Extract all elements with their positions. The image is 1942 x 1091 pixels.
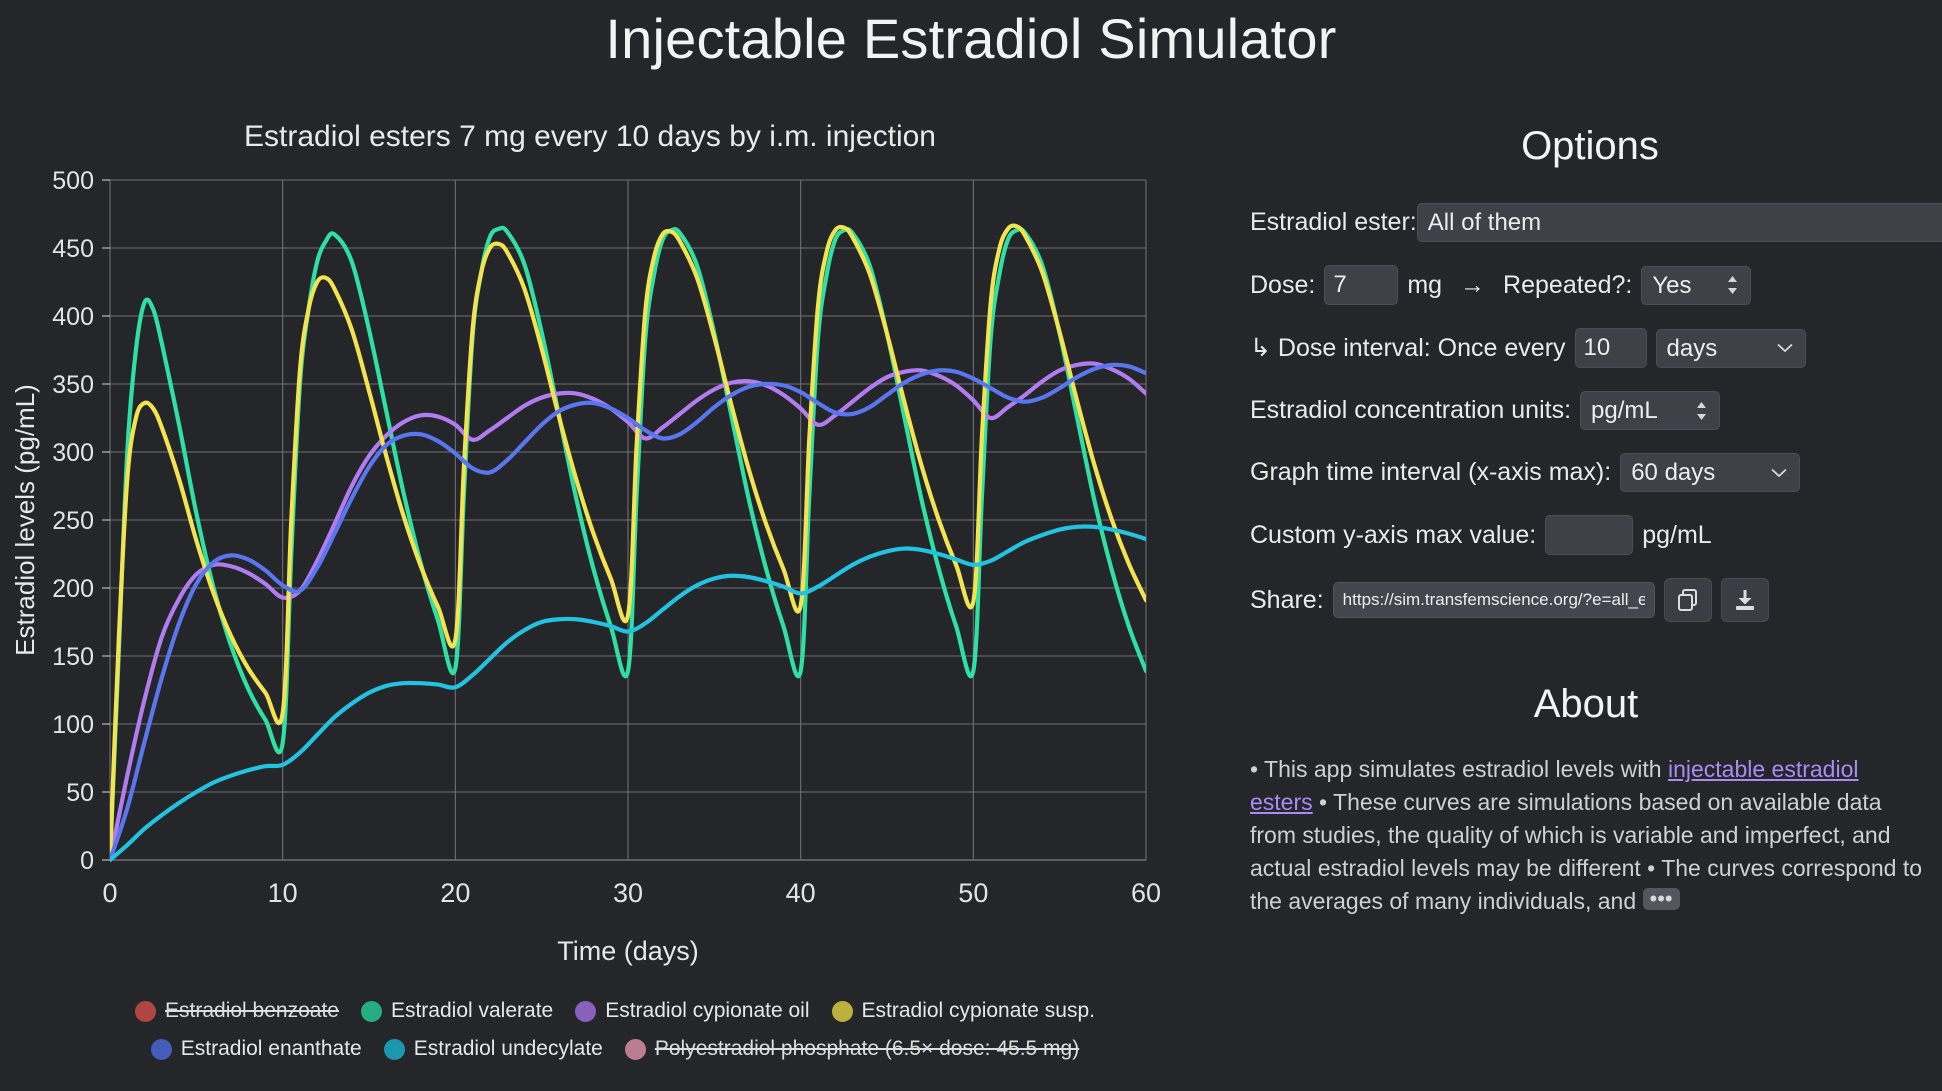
legend-color-swatch	[384, 1039, 405, 1060]
dose-interval-unit-select[interactable]: days	[1656, 329, 1806, 368]
concentration-units-select[interactable]: pg/mL	[1580, 391, 1720, 430]
copy-link-button[interactable]	[1664, 578, 1712, 622]
x-tick-label: 50	[958, 878, 988, 908]
legend-label: Estradiol undecylate	[414, 1037, 603, 1061]
legend-item[interactable]: Estradiol enanthate	[151, 1037, 362, 1061]
legend-color-swatch	[625, 1039, 646, 1060]
legend-label: Polyestradiol phosphate (6.5× dose: 45.5…	[655, 1037, 1079, 1061]
legend-label: Estradiol cypionate oil	[605, 999, 809, 1023]
legend-item[interactable]: Estradiol valerate	[361, 999, 553, 1023]
custom-ymax-input[interactable]	[1545, 515, 1633, 555]
repeated-select-wrap: Yes	[1641, 266, 1751, 305]
y-tick-label: 0	[80, 847, 94, 875]
time-interval-row: Graph time interval (x-axis max): 60 day…	[1250, 453, 1930, 492]
legend-color-swatch	[361, 1001, 382, 1022]
share-row: Share:	[1250, 578, 1930, 622]
dose-interval-row: ↳ Dose interval: Once every days	[1250, 328, 1930, 368]
chart-legend: Estradiol benzoateEstradiol valerateEstr…	[0, 992, 1230, 1068]
y-tick-label: 250	[52, 507, 94, 535]
ester-select-wrap: All of them	[1417, 203, 1942, 242]
repeated-label: Repeated?:	[1503, 271, 1632, 300]
legend-item[interactable]: Estradiol cypionate oil	[575, 999, 809, 1023]
about-text-part-2: • These curves are simulations based on …	[1250, 789, 1922, 914]
legend-color-swatch	[832, 1001, 853, 1022]
x-tick-label: 60	[1131, 878, 1161, 908]
ymax-label: Custom y-axis max value:	[1250, 521, 1536, 550]
options-heading: Options	[1250, 124, 1930, 169]
dose-interval-label: ↳ Dose interval: Once every	[1250, 333, 1566, 363]
app-root: Injectable Estradiol Simulator Estradiol…	[0, 0, 1942, 1091]
units-select-wrap: pg/mL	[1580, 391, 1720, 430]
show-more-button[interactable]: •••	[1643, 888, 1680, 910]
ester-label: Estradiol ester:	[1250, 208, 1417, 237]
legend-label: Estradiol valerate	[391, 999, 553, 1023]
units-row: Estradiol concentration units: pg/mL	[1250, 391, 1930, 430]
about-panel: About • This app simulates estradiol lev…	[1250, 682, 1922, 918]
dose-row: Dose: mg → Repeated?: Yes	[1250, 265, 1930, 305]
ymax-unit-label: pg/mL	[1642, 521, 1711, 550]
about-text: • This app simulates estradiol levels wi…	[1250, 753, 1922, 918]
x-tick-label: 40	[786, 878, 816, 908]
y-tick-label: 400	[52, 303, 94, 331]
legend-color-swatch	[151, 1039, 172, 1060]
units-label: Estradiol concentration units:	[1250, 396, 1571, 425]
ester-row: Estradiol ester: All of them	[1250, 203, 1930, 242]
legend-row-2: Estradiol enanthateEstradiol undecylateP…	[0, 1030, 1230, 1068]
legend-label: Estradiol benzoate	[165, 999, 339, 1023]
interval-unit-select-wrap: days	[1656, 329, 1806, 368]
estradiol-levels-chart: 0501001502002503003504004505000102030405…	[0, 148, 1180, 978]
x-axis-label: Time (days)	[557, 936, 699, 966]
time-interval-select-wrap: 60 days	[1620, 453, 1800, 492]
download-button[interactable]	[1721, 578, 1769, 622]
about-heading: About	[1250, 682, 1922, 727]
dose-input[interactable]	[1324, 265, 1398, 305]
legend-color-swatch	[135, 1001, 156, 1022]
legend-row-1: Estradiol benzoateEstradiol valerateEstr…	[0, 992, 1230, 1030]
legend-item[interactable]: Estradiol benzoate	[135, 999, 339, 1023]
dose-arrow-icon: →	[1460, 271, 1485, 300]
legend-item[interactable]: Estradiol undecylate	[384, 1037, 603, 1061]
legend-item[interactable]: Polyestradiol phosphate (6.5× dose: 45.5…	[625, 1037, 1079, 1061]
page-title: Injectable Estradiol Simulator	[0, 6, 1942, 71]
y-tick-label: 50	[66, 779, 94, 807]
dose-unit-label: mg	[1407, 271, 1442, 300]
y-tick-label: 300	[52, 439, 94, 467]
legend-color-swatch	[575, 1001, 596, 1022]
y-axis-label: Estradiol levels (pg/mL)	[10, 384, 40, 656]
dose-label: Dose:	[1250, 271, 1315, 300]
y-tick-label: 450	[52, 235, 94, 263]
dose-interval-input[interactable]	[1575, 328, 1647, 368]
y-tick-label: 350	[52, 371, 94, 399]
x-tick-label: 20	[440, 878, 470, 908]
repeated-select[interactable]: Yes	[1641, 266, 1751, 305]
y-tick-label: 500	[52, 167, 94, 195]
x-tick-label: 10	[268, 878, 298, 908]
share-url-input[interactable]	[1333, 582, 1655, 618]
about-text-part-1: • This app simulates estradiol levels wi…	[1250, 756, 1668, 782]
ymax-row: Custom y-axis max value: pg/mL	[1250, 515, 1930, 555]
time-interval-label: Graph time interval (x-axis max):	[1250, 458, 1611, 487]
copy-icon	[1675, 587, 1701, 613]
y-tick-label: 150	[52, 643, 94, 671]
y-tick-label: 200	[52, 575, 94, 603]
graph-time-interval-select[interactable]: 60 days	[1620, 453, 1800, 492]
estradiol-ester-select[interactable]: All of them	[1417, 203, 1942, 242]
legend-label: Estradiol cypionate susp.	[862, 999, 1095, 1023]
chart-container: Estradiol esters 7 mg every 10 days by i…	[0, 120, 1230, 980]
share-label: Share:	[1250, 586, 1324, 615]
options-panel: Options Estradiol ester: All of them Dos…	[1250, 124, 1930, 645]
legend-item[interactable]: Estradiol cypionate susp.	[832, 999, 1095, 1023]
x-tick-label: 0	[102, 878, 117, 908]
y-tick-label: 100	[52, 711, 94, 739]
legend-label: Estradiol enanthate	[181, 1037, 362, 1061]
download-icon	[1732, 587, 1758, 613]
x-tick-label: 30	[613, 878, 643, 908]
